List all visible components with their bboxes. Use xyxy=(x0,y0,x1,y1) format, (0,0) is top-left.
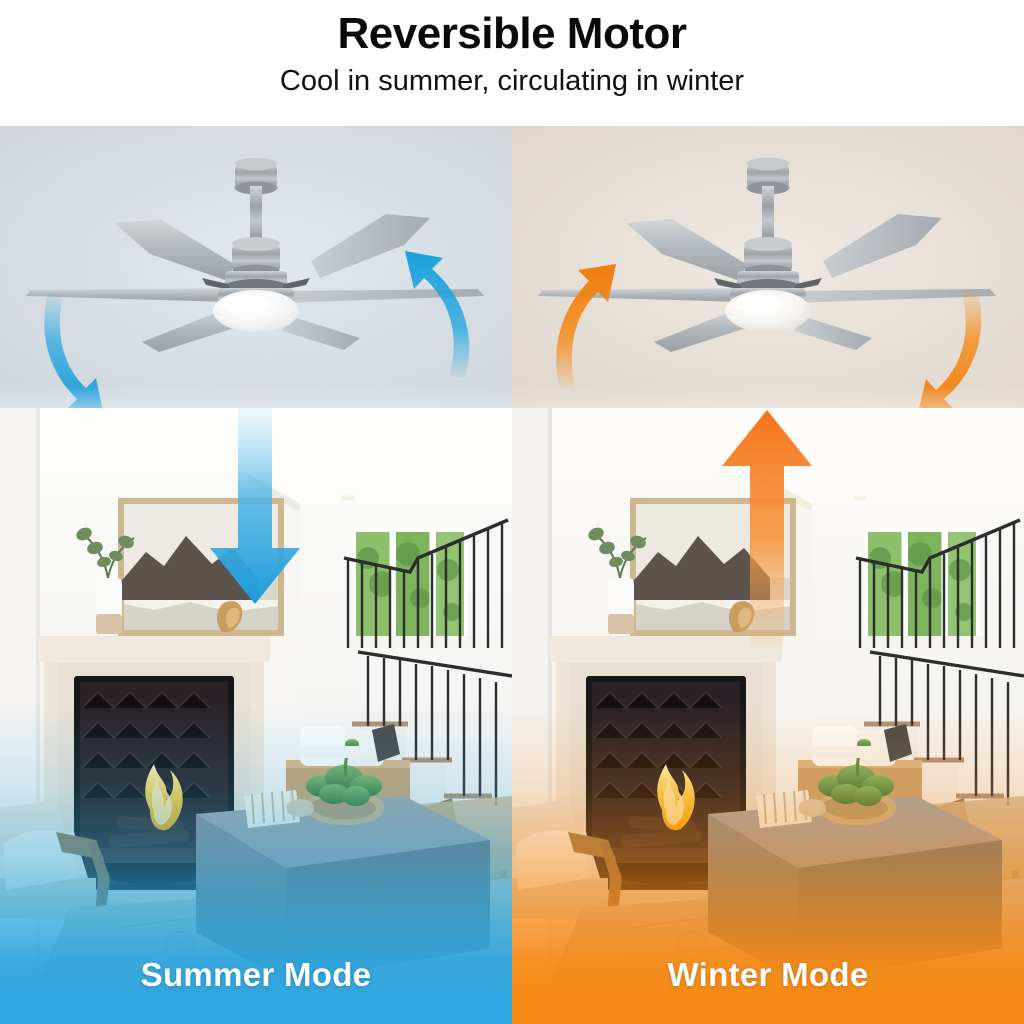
fan-stage-summer xyxy=(0,126,512,426)
panel-winter-mode: Winter Mode xyxy=(512,126,1024,1024)
fan-stage-winter xyxy=(512,126,1024,426)
header: Reversible Motor Cool in summer, circula… xyxy=(0,0,1024,126)
infographic-page: Reversible Motor Cool in summer, circula… xyxy=(0,0,1024,1024)
ceiling-fan-diagram-summer xyxy=(0,126,512,426)
rotation-arrow-right xyxy=(917,290,981,417)
page-subtitle: Cool in summer, circulating in winter xyxy=(280,62,744,100)
winter-mode-label: Winter Mode xyxy=(512,956,1024,994)
room-scene-winter xyxy=(512,408,1024,1024)
rotation-arrow-right xyxy=(405,251,469,378)
page-title: Reversible Motor xyxy=(338,8,687,60)
room-scene-summer xyxy=(0,408,512,1024)
living-room-illustration xyxy=(512,408,1024,1024)
summer-mode-label: Summer Mode xyxy=(0,956,512,994)
rotation-arrow-left xyxy=(556,264,616,389)
rotation-arrow-left xyxy=(44,293,104,416)
living-room-illustration xyxy=(0,408,512,1024)
ceiling-fan-diagram-winter xyxy=(512,126,1024,426)
panel-summer-mode: Summer Mode xyxy=(0,126,512,1024)
